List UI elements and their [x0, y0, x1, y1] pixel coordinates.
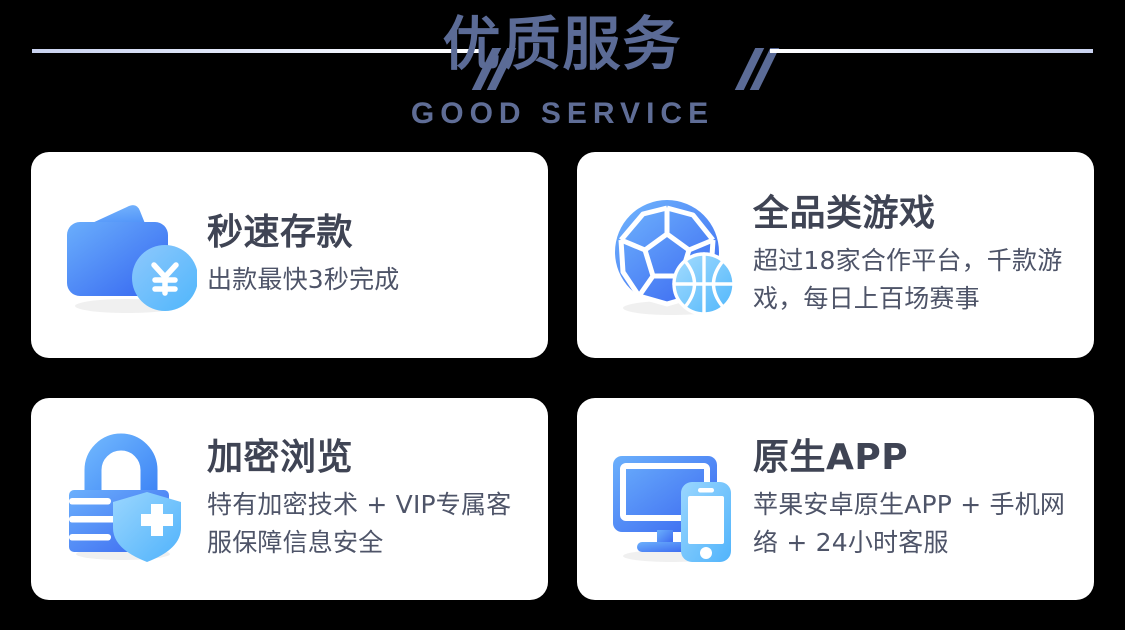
card-description: 苹果安卓原生APP + 手机网络 + 24小时客服: [753, 486, 1082, 562]
monitor-phone-icon: [605, 430, 743, 568]
card-title: 秒速存款: [207, 211, 536, 255]
soccer-basketball-icon: [605, 186, 743, 324]
promo-banner: 优质服务 GOOD SERVICE: [0, 0, 1125, 630]
lock-shield-icon: [59, 430, 197, 568]
card-title: 全品类游戏: [753, 192, 1082, 236]
page-title: 优质服务: [0, 8, 1125, 80]
feature-card-text: 原生APP 苹果安卓原生APP + 手机网络 + 24小时客服: [743, 436, 1094, 562]
feature-card-text: 全品类游戏 超过18家合作平台，千款游戏，每日上百场赛事: [743, 192, 1094, 318]
header-rule-right: [770, 49, 1093, 53]
feature-card-grid: 秒速存款 出款最快3秒完成: [31, 152, 1094, 600]
card-description: 出款最快3秒完成: [207, 261, 536, 299]
feature-card-deposit[interactable]: 秒速存款 出款最快3秒完成: [31, 152, 548, 358]
feature-card-text: 秒速存款 出款最快3秒完成: [197, 211, 548, 299]
feature-card-text: 加密浏览 特有加密技术 + VIP专属客服保障信息安全: [197, 436, 548, 562]
card-title: 原生APP: [753, 436, 1082, 480]
feature-card-native-app[interactable]: 原生APP 苹果安卓原生APP + 手机网络 + 24小时客服: [577, 398, 1094, 600]
card-description: 特有加密技术 + VIP专属客服保障信息安全: [207, 486, 536, 562]
banner-header: 优质服务 GOOD SERVICE: [0, 0, 1125, 140]
page-subtitle: GOOD SERVICE: [0, 96, 1125, 132]
feature-card-games[interactable]: 全品类游戏 超过18家合作平台，千款游戏，每日上百场赛事: [577, 152, 1094, 358]
card-title: 加密浏览: [207, 436, 536, 480]
card-description: 超过18家合作平台，千款游戏，每日上百场赛事: [753, 242, 1082, 318]
wallet-yen-icon: [59, 186, 197, 324]
feature-card-encryption[interactable]: 加密浏览 特有加密技术 + VIP专属客服保障信息安全: [31, 398, 548, 600]
